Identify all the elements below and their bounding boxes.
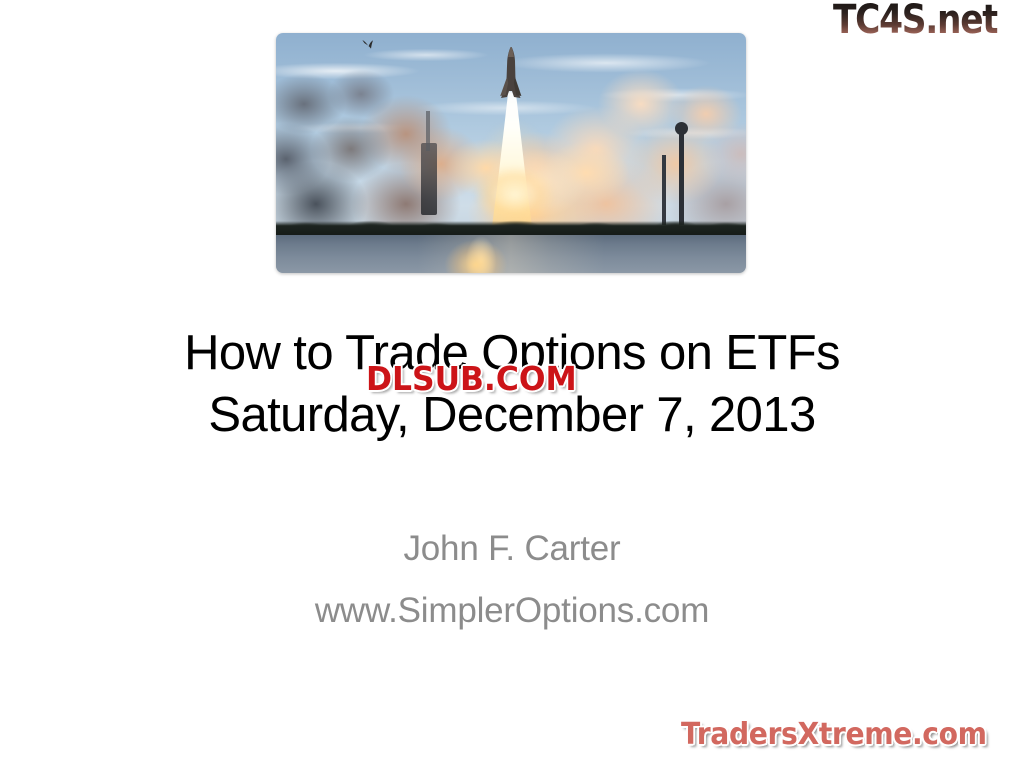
bird-silhouette-icon — [362, 39, 376, 50]
service-tower-secondary — [662, 155, 666, 225]
presenter-website: www.SimplerOptions.com — [0, 580, 1024, 642]
presentation-slide: How to Trade Options on ETFs Saturday, D… — [0, 0, 1024, 768]
lightning-mast-cap — [675, 122, 688, 135]
space-shuttle-launch-photo — [276, 33, 746, 273]
lightning-mast-right — [679, 129, 684, 225]
watermark-tc4s: TC4S.net — [833, 0, 997, 40]
water-reflection — [276, 235, 746, 273]
space-shuttle-icon — [498, 47, 524, 101]
exhaust-ground-flash — [462, 149, 568, 225]
slide-subtitle: John F. Carter www.SimplerOptions.com — [0, 518, 1024, 642]
watermark-dlsub: DLSUB.COM — [366, 360, 577, 398]
launch-pad-structure — [421, 143, 437, 215]
watermark-tradersxtreme: TradersXtreme.com — [681, 716, 987, 754]
presenter-name: John F. Carter — [0, 518, 1024, 580]
lightning-mast-left — [426, 111, 430, 151]
